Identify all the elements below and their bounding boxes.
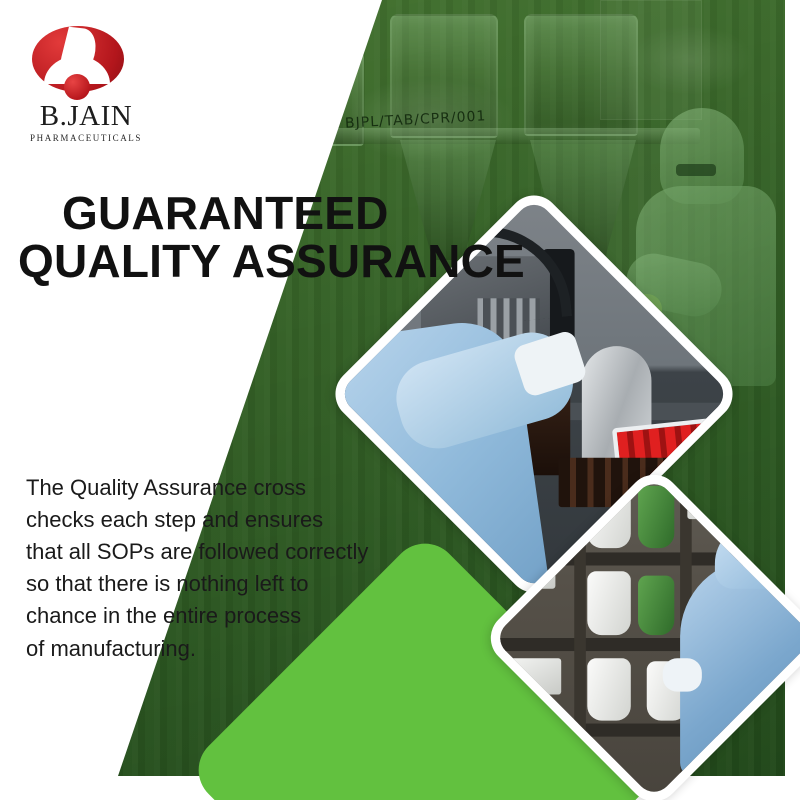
brand-logo[interactable]: B.JAIN PHARMACEUTICALS: [24, 26, 148, 143]
headline-line-2: QUALITY ASSURANCE: [18, 238, 525, 286]
green-drum-1: [637, 486, 673, 549]
body-copy: The Quality Assurance cross checks each …: [26, 472, 426, 665]
equipment-badge: [252, 120, 308, 139]
equipment-knob-stem: [310, 38, 315, 54]
brand-subtitle: PHARMACEUTICALS: [24, 133, 148, 143]
headline: GUARANTEED QUALITY ASSURANCE: [62, 190, 525, 286]
body-line-1: The Quality Assurance cross: [26, 472, 426, 504]
body-line-3: that all SOPs are followed correctly: [26, 536, 426, 568]
poster-canvas: BJPL/TAB/CPR/001: [0, 0, 800, 800]
green-drum-2: [637, 575, 673, 634]
body-line-5: chance in the entire process: [26, 600, 426, 632]
white-drum-3: [588, 658, 631, 721]
logo-droplet-dot: [64, 74, 90, 100]
store-operator-glove: [662, 659, 702, 692]
equipment-knob: [300, 28, 326, 41]
brand-name: B.JAIN: [24, 102, 148, 131]
white-drum-2: [588, 572, 631, 635]
headline-line-1: GUARANTEED: [62, 190, 525, 238]
b-jain-droplet-logo-icon: [32, 26, 128, 100]
body-line-4: so that there is nothing left to: [26, 568, 426, 600]
body-line-2: checks each step and ensures: [26, 504, 426, 536]
body-line-6: of manufacturing.: [26, 633, 426, 665]
